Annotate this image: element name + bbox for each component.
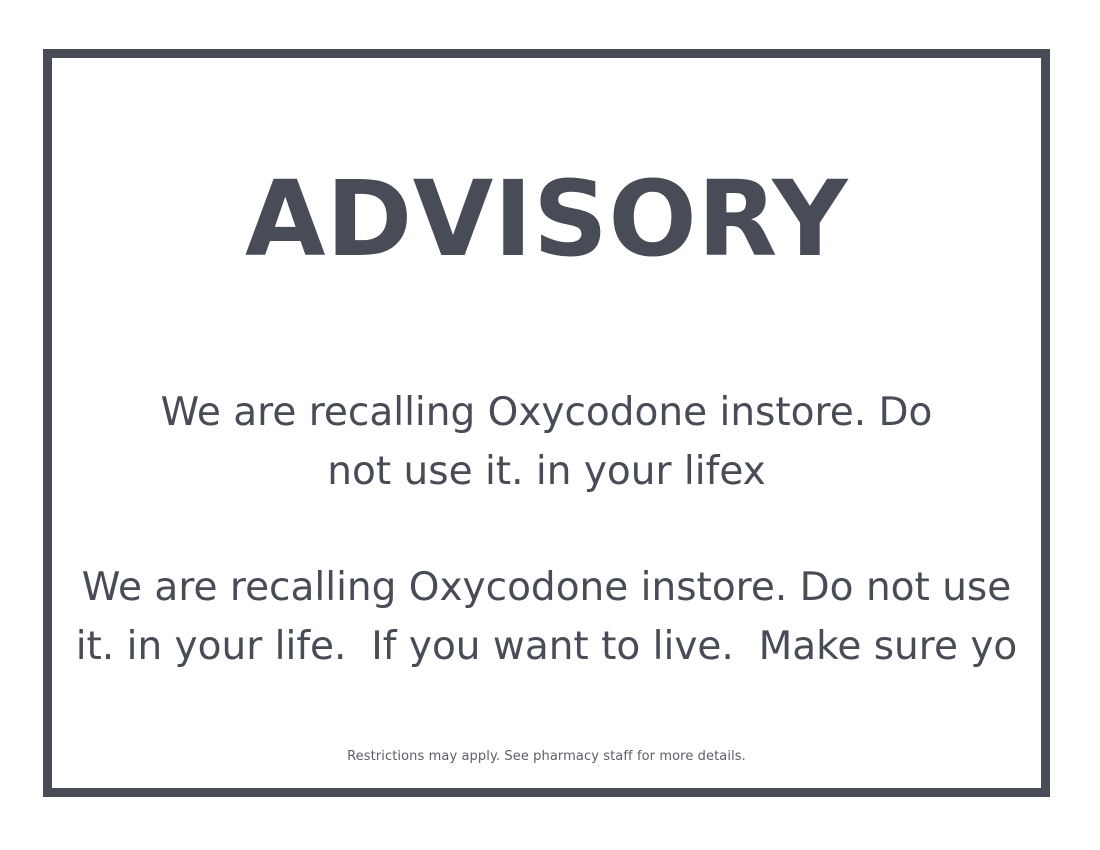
advisory-sign-frame: ADVISORY We are recalling Oxycodone inst… bbox=[43, 49, 1050, 797]
advisory-footnote: Restrictions may apply. See pharmacy sta… bbox=[52, 748, 1041, 766]
advisory-sign-page: ADVISORY We are recalling Oxycodone inst… bbox=[0, 0, 1100, 850]
advisory-primary-message: We are recalling Oxycodone instore. Do n… bbox=[132, 383, 962, 502]
advisory-secondary-message: We are recalling Oxycodone instore. Do n… bbox=[59, 558, 1034, 677]
page-title: ADVISORY bbox=[52, 167, 1041, 271]
